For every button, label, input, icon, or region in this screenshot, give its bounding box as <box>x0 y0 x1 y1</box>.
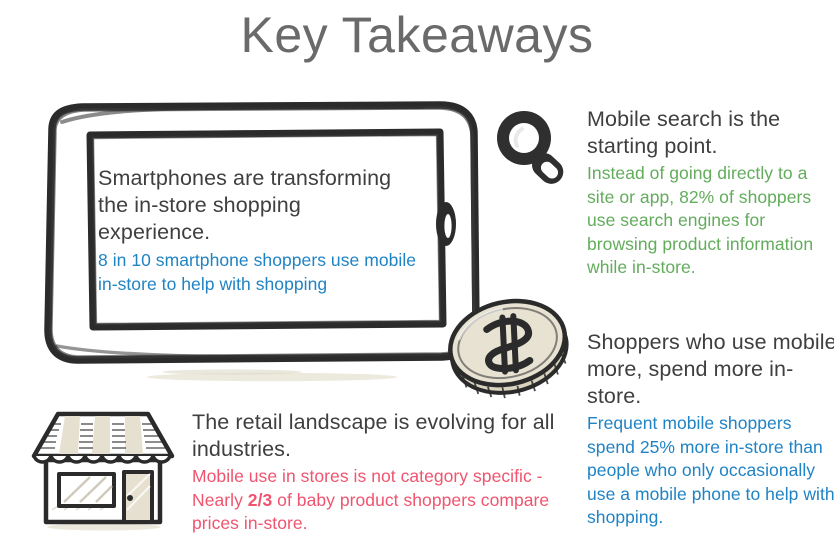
tablet-subtext: 8 in 10 smartphone shoppers use mobile i… <box>98 249 418 296</box>
retail-landscape-subtext: Mobile use in stores is not category spe… <box>192 465 562 536</box>
retail-landscape-text-block: The retail landscape is evolving for all… <box>192 409 562 536</box>
shoppers-spend-text-block: Shoppers who use mobile more, spend more… <box>587 329 834 530</box>
retail-landscape-subtext-emphasis: 2/3 <box>248 490 272 510</box>
magnifying-glass-icon <box>492 107 574 191</box>
page-title: Key Takeaways <box>0 4 834 66</box>
infographic-page: Key Takeaways Smartphones are transformi… <box>0 0 834 542</box>
mobile-search-text-block: Mobile search is the starting point. Ins… <box>587 106 834 280</box>
mobile-search-subtext: Instead of going directly to a site or a… <box>587 162 834 280</box>
mobile-search-headline: Mobile search is the starting point. <box>587 106 834 160</box>
retail-landscape-headline: The retail landscape is evolving for all… <box>192 409 562 463</box>
coin-sketch-icon <box>437 289 579 401</box>
shoppers-spend-headline: Shoppers who use mobile more, spend more… <box>587 329 834 410</box>
storefront-sketch-icon <box>24 398 182 538</box>
tablet-text-block: Smartphones are transforming the in-stor… <box>98 165 418 296</box>
shoppers-spend-subtext: Frequent mobile shoppers spend 25% more … <box>587 412 834 530</box>
tablet-headline: Smartphones are transforming the in-stor… <box>98 165 418 246</box>
